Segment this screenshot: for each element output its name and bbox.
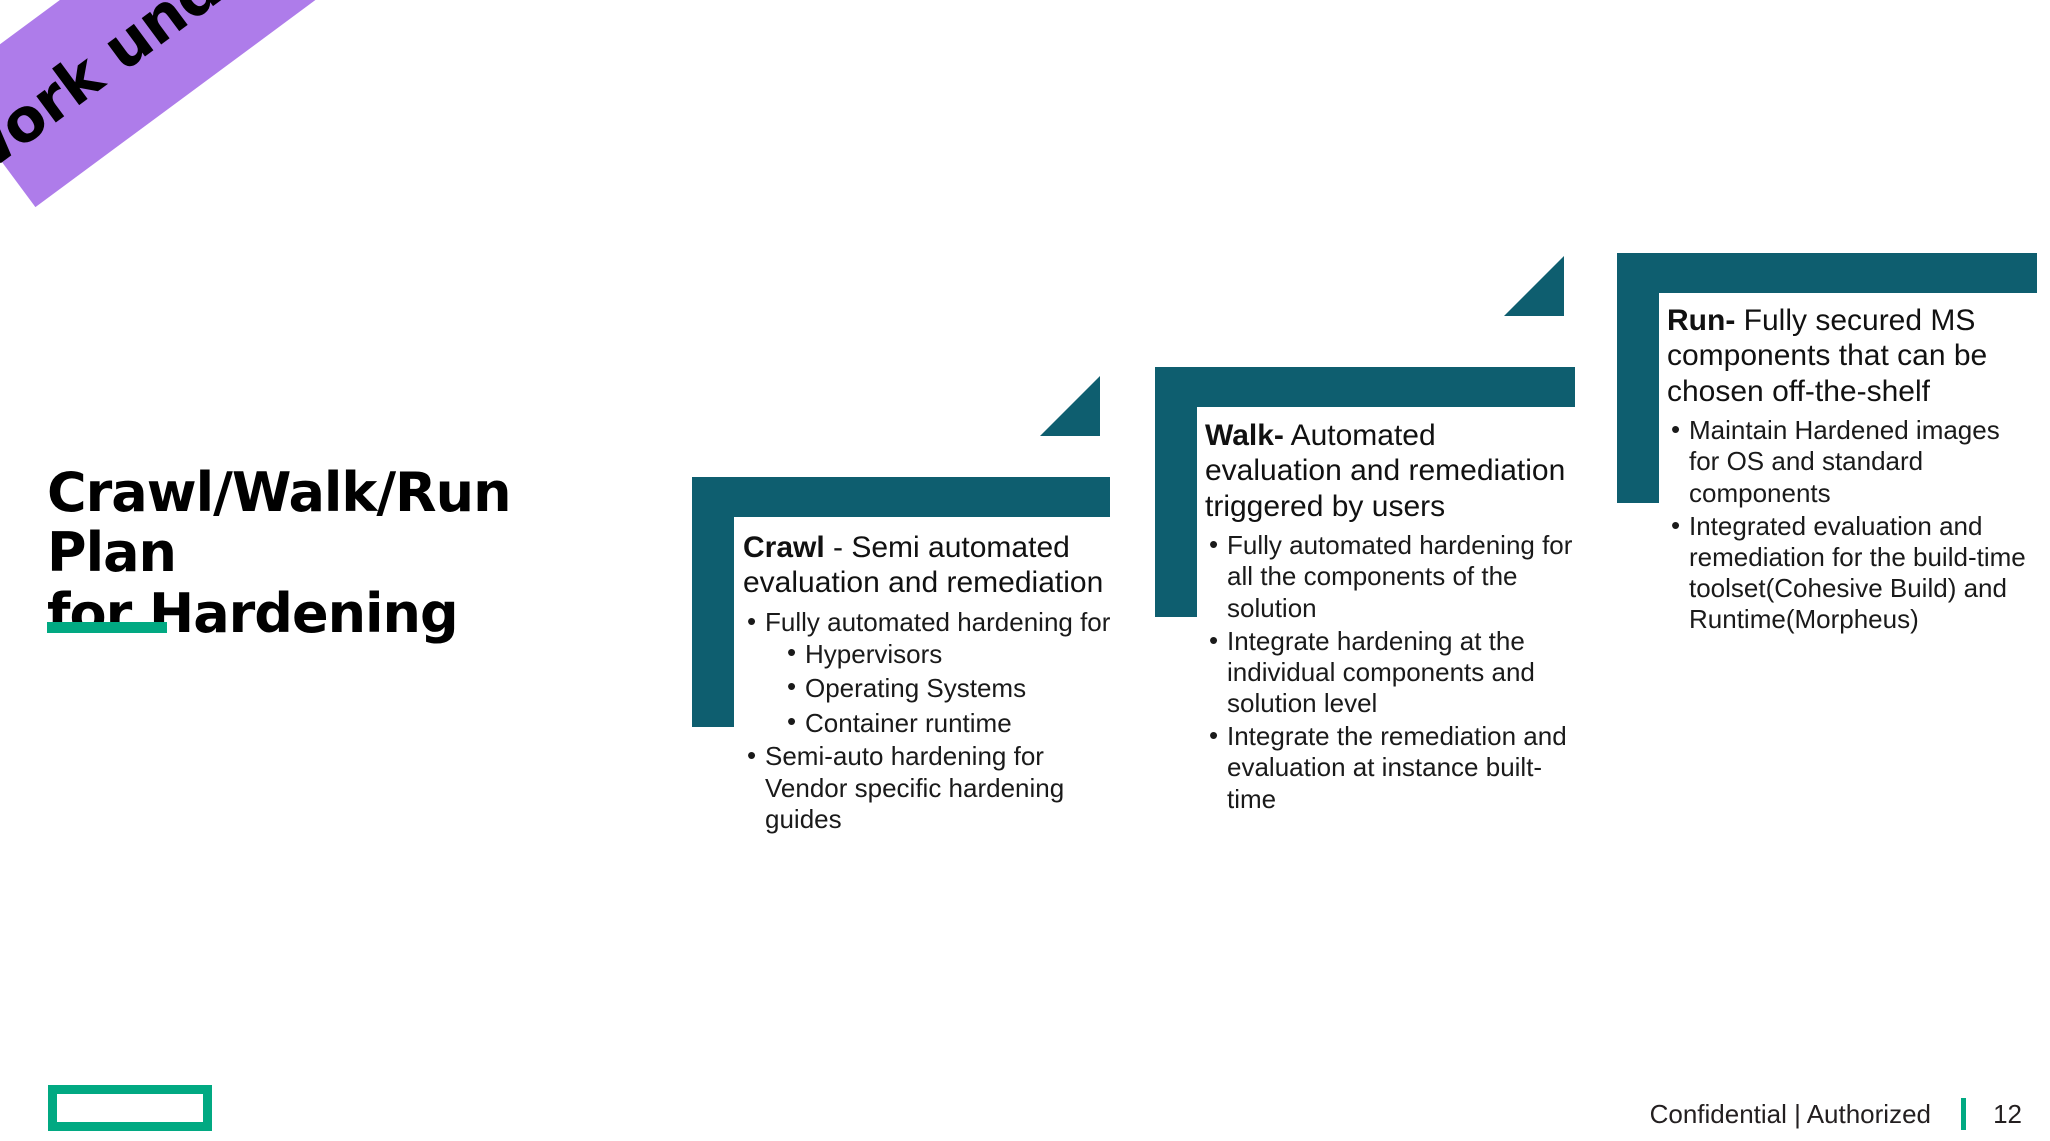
card-walk-heading-bold: Walk-	[1205, 419, 1284, 452]
list-item: Fully automated hardening for Hypervisor…	[743, 607, 1123, 740]
card-crawl-header-bar	[692, 477, 1110, 517]
hpe-logo-inner	[57, 1094, 203, 1122]
list-item: Semi-auto hardening for Vendor specific …	[743, 741, 1123, 835]
card-run-heading: Run- Fully secured MS components that ca…	[1667, 303, 2035, 409]
card-run-left-bar	[1617, 253, 1659, 503]
list-item: Operating Systems	[783, 672, 1123, 705]
card-run-body: Run- Fully secured MS components that ca…	[1667, 303, 2035, 637]
card-walk-header-bar	[1155, 367, 1575, 407]
page-number: 12	[1992, 1099, 2022, 1130]
card-walk-bullet-list: Fully automated hardening for all the co…	[1205, 530, 1573, 815]
page-title-line-2: for Hardening	[47, 584, 647, 644]
card-crawl-bullet-list: Fully automated hardening for Hypervisor…	[743, 607, 1123, 835]
bullet-text: Integrate the remediation and evaluation…	[1227, 721, 1573, 815]
card-run-header-bar	[1617, 253, 2037, 293]
title-accent-bar	[47, 622, 167, 633]
list-item: Container runtime	[783, 707, 1123, 740]
footer-confidential-label: Confidential | Authorized	[1650, 1099, 1931, 1130]
list-item: Integrate hardening at the individual co…	[1205, 626, 1573, 720]
bullet-text: Fully automated hardening for all the co…	[1227, 530, 1573, 624]
page-title: Crawl/Walk/Run Plan for Hardening	[47, 463, 647, 644]
list-item: Hypervisors	[783, 638, 1123, 671]
work-under-progress-banner: Work under Progress	[0, 0, 534, 207]
corner-triangle-icon	[1504, 256, 1564, 316]
list-item: Integrated evaluation and remediation fo…	[1667, 511, 2035, 636]
bullet-text: Semi-auto hardening for Vendor specific …	[765, 741, 1123, 835]
bullet-text: Integrate hardening at the individual co…	[1227, 626, 1573, 720]
bullet-text: Hypervisors	[805, 638, 1123, 671]
bullet-text: Operating Systems	[805, 672, 1123, 705]
corner-triangle-icon	[1040, 376, 1100, 436]
footer: Confidential | Authorized 12	[1650, 1098, 2022, 1130]
work-under-progress-label: Work under Progress	[0, 0, 544, 200]
page-title-line-1: Crawl/Walk/Run Plan	[47, 463, 647, 584]
card-run-heading-bold: Run-	[1667, 304, 1735, 337]
bullet-text: Fully automated hardening for	[765, 607, 1123, 638]
list-item: Integrate the remediation and evaluation…	[1205, 721, 1573, 815]
bullet-text: Container runtime	[805, 707, 1123, 740]
card-run-bullet-list: Maintain Hardened images for OS and stan…	[1667, 415, 2035, 635]
list-item: Maintain Hardened images for OS and stan…	[1667, 415, 2035, 509]
list-item: Fully automated hardening for all the co…	[1205, 530, 1573, 624]
card-crawl-sub-bullet-list: Hypervisors Operating Systems Container …	[765, 638, 1123, 740]
card-crawl-heading-bold: Crawl	[743, 531, 825, 564]
footer-divider	[1961, 1098, 1966, 1130]
card-walk-body: Walk- Automated evaluation and remediati…	[1205, 418, 1573, 817]
card-crawl-body: Crawl - Semi automated evaluation and re…	[743, 530, 1123, 837]
bullet-text: Maintain Hardened images for OS and stan…	[1689, 415, 2035, 509]
card-walk-left-bar	[1155, 367, 1197, 617]
bullet-text: Integrated evaluation and remediation fo…	[1689, 511, 2035, 636]
card-walk-heading: Walk- Automated evaluation and remediati…	[1205, 418, 1573, 524]
hpe-logo-icon	[48, 1085, 212, 1131]
slide-canvas: Work under Progress Crawl/Walk/Run Plan …	[0, 0, 2050, 1141]
card-crawl-left-bar	[692, 477, 734, 727]
card-crawl-heading: Crawl - Semi automated evaluation and re…	[743, 530, 1123, 601]
